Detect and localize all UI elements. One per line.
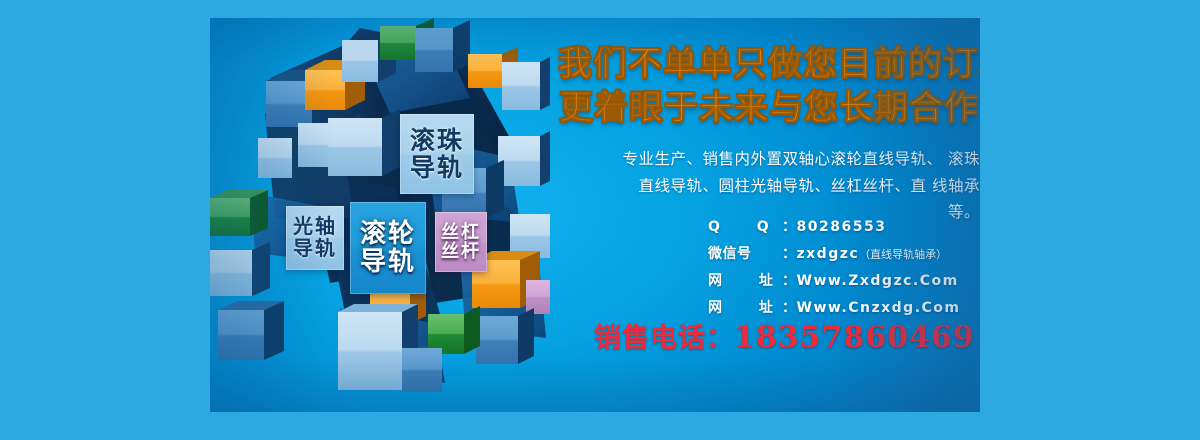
page-root: 滚珠 导轨 光轴 导轨 滚轮 导轨 丝杠 丝杆 我们不单单只做您目前的订单 更着…	[0, 0, 1200, 440]
headline-line-2: 更着眼于未来与您长期合作	[558, 86, 980, 130]
contact-value-website-1: Www.Zxdgzc.Com	[797, 273, 959, 289]
product-chip-line1: 光轴	[293, 216, 337, 238]
product-chip-lead-screw: 丝杠 丝杆	[435, 212, 487, 272]
banner-copy-panel: 我们不单单只做您目前的订单 更着眼于未来与您长期合作 专业生产、销售内外置双轴心…	[558, 18, 980, 412]
contact-separator: ：	[782, 243, 797, 263]
contact-value-wechat: zxdgzc	[797, 246, 860, 262]
product-chip-roller-guide: 滚轮 导轨	[350, 202, 426, 294]
subtitle-line-1: 专业生产、销售内外置双轴心滚轮直线导轨、	[623, 150, 943, 168]
contact-label: 微信号	[708, 243, 782, 263]
product-chip-ball-guide: 滚珠 导轨	[400, 114, 474, 194]
product-chip-line2: 导轨	[360, 248, 416, 276]
product-chip-line1: 滚珠	[410, 127, 464, 154]
headline-line-1: 我们不单单只做您目前的订单	[558, 42, 980, 86]
contact-label: 网 址	[708, 270, 782, 290]
sales-phone-number: 18357860469	[734, 320, 975, 355]
product-chip-line2: 丝杆	[441, 242, 481, 261]
promo-banner: 滚珠 导轨 光轴 导轨 滚轮 导轨 丝杠 丝杆 我们不单单只做您目前的订单 更着…	[210, 18, 980, 412]
contact-separator: ：	[782, 216, 797, 236]
product-chip-optical-axis-guide: 光轴 导轨	[286, 206, 344, 270]
contact-separator: ：	[782, 270, 797, 290]
contact-row-website-1: 网 址 ： Www.Zxdgzc.Com	[708, 270, 961, 290]
product-chip-line1: 丝杠	[441, 223, 481, 242]
sales-phone: 销售电话：18357860469	[594, 316, 975, 355]
contact-row-wechat: 微信号 ： zxdgzc （直线导轨轴承）	[708, 243, 961, 263]
contact-row-website-2: 网 址 ： Www.Cnzxdg.Com	[708, 297, 961, 317]
contact-separator: ：	[782, 297, 797, 317]
contact-value-qq: 80286553	[797, 219, 887, 235]
contact-note-wechat: （直线导轨轴承）	[859, 246, 947, 262]
contact-list: Q Q ： 80286553 微信号 ： zxdgzc （直线导轨轴承） 网 址…	[708, 216, 961, 324]
contact-label: Q Q	[708, 219, 782, 235]
contact-row-qq: Q Q ： 80286553	[708, 216, 961, 236]
sales-phone-label: 销售电话：	[594, 323, 734, 354]
product-chip-line2: 导轨	[410, 154, 464, 181]
subtitle: 专业生产、销售内外置双轴心滚轮直线导轨、 滚珠直线导轨、圆柱光轴导轨、丝杠丝杆、…	[614, 146, 980, 226]
contact-label: 网 址	[708, 297, 782, 317]
contact-value-website-2: Www.Cnzxdg.Com	[797, 300, 961, 316]
subtitle-line-3: 线轴承等。	[932, 177, 980, 222]
headline: 我们不单单只做您目前的订单 更着眼于未来与您长期合作	[558, 42, 980, 130]
product-chip-line1: 滚轮	[360, 220, 416, 248]
product-chip-line2: 导轨	[293, 238, 337, 260]
